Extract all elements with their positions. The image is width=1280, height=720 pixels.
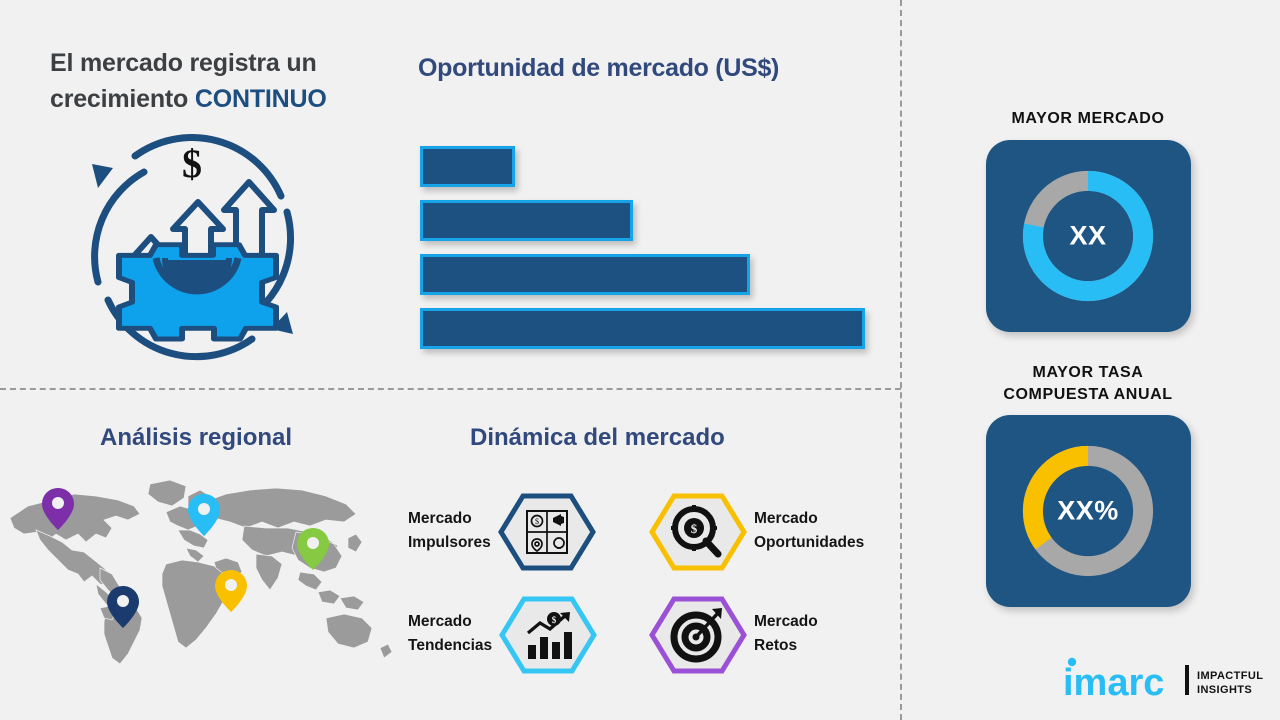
kpi-highest-cagr-title-line1: MAYOR TASA — [1033, 364, 1144, 381]
bar-3 — [420, 254, 750, 295]
logo-tagline-line1: IMPACTFUL — [1197, 670, 1263, 682]
svg-text:$: $ — [535, 517, 539, 526]
dynamics-item-challenges[interactable]: Mercado Retos — [648, 595, 818, 673]
dynamics-item-trends-label: Mercado Tendencias — [408, 610, 492, 658]
growth-heading: El mercado registra un crecimiento CONTI… — [50, 46, 400, 117]
kpi-highest-cagr: MAYOR TASA COMPUESTA ANUAL XX% — [968, 362, 1208, 607]
dynamics-item-drivers-label: Mercado Impulsores — [408, 507, 491, 555]
bar-1 — [420, 146, 515, 187]
imarc-logo: imarc IMPACTFUL INSIGHTS — [1063, 655, 1263, 703]
puzzle-pieces-icon: $ — [527, 511, 567, 553]
regional-heading: Análisis regional — [100, 424, 292, 452]
kpi-highest-cagr-title: MAYOR TASA COMPUESTA ANUAL — [968, 362, 1208, 405]
map-pin-europe — [188, 494, 220, 536]
world-map — [0, 472, 400, 672]
hexagon-opportunities: $ — [648, 492, 746, 570]
label-line1: Mercado — [408, 613, 472, 630]
dynamics-item-drivers[interactable]: Mercado Impulsores $ — [408, 492, 595, 570]
hexagon-drivers: $ — [497, 492, 595, 570]
dynamics-item-opportunities[interactable]: $ Mercado Oportunidades — [648, 492, 864, 570]
bar-4 — [420, 308, 865, 349]
dynamics-heading: Dinámica del mercado — [470, 424, 725, 452]
horizontal-divider — [0, 388, 901, 390]
label-line2: Tendencias — [408, 637, 492, 654]
label-line2: Impulsores — [408, 534, 491, 551]
growth-heading-accent: CONTINUO — [195, 85, 327, 113]
hexagon-trends: $ — [498, 595, 596, 673]
svg-text:$: $ — [691, 521, 698, 536]
growth-heading-line1: El mercado registra un — [50, 49, 317, 77]
dynamics-item-opportunities-label: Mercado Oportunidades — [754, 507, 864, 555]
label-line1: Mercado — [754, 613, 818, 630]
label-line1: Mercado — [754, 510, 818, 527]
dynamics-item-challenges-label: Mercado Retos — [754, 610, 818, 658]
logo-tagline-line2: INSIGHTS — [1197, 684, 1252, 696]
hexagon-challenges — [648, 595, 746, 673]
growth-dollar-symbol: $ — [182, 141, 202, 186]
opportunity-bar-chart — [420, 146, 880, 356]
infographic-canvas: El mercado registra un crecimiento CONTI… — [0, 0, 1280, 720]
bar-2 — [420, 200, 633, 241]
kpi-largest-market-value: XX — [986, 220, 1191, 251]
kpi-highest-cagr-title-line2: COMPUESTA ANUAL — [1003, 386, 1172, 403]
opportunity-heading: Oportunidad de mercado (US$) — [418, 54, 779, 83]
label-line2: Oportunidades — [754, 534, 864, 551]
kpi-largest-market-card: XX — [986, 140, 1191, 332]
label-line2: Retos — [754, 637, 797, 654]
svg-text:$: $ — [552, 615, 557, 625]
vertical-divider — [900, 0, 902, 720]
label-line1: Mercado — [408, 510, 472, 527]
logo-wordmark: imarc — [1063, 662, 1164, 703]
growth-heading-line2-plain: crecimiento — [50, 85, 195, 113]
dynamics-item-trends[interactable]: Mercado Tendencias $ — [408, 595, 596, 673]
kpi-highest-cagr-card: XX% — [986, 415, 1191, 607]
growth-cycle-gear-icon: $ — [72, 132, 307, 367]
kpi-largest-market: MAYOR MERCADO XX — [968, 108, 1208, 332]
kpi-largest-market-title: MAYOR MERCADO — [968, 108, 1208, 130]
logo-divider-bar — [1185, 665, 1189, 695]
kpi-highest-cagr-value: XX% — [986, 496, 1191, 527]
